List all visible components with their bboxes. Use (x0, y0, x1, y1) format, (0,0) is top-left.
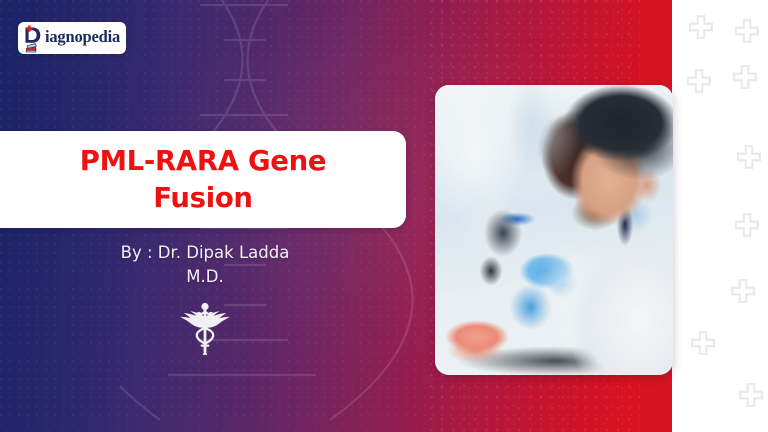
brand-logo-wordmark: iagnopedia (45, 29, 120, 47)
medical-cross-outline-icon (688, 14, 714, 40)
page-title: PML-RARA Gene Fusion (62, 143, 327, 216)
medical-cross-outline-icon (734, 212, 760, 238)
medical-cross-outline-icon (736, 144, 762, 170)
laboratory-photo (435, 85, 673, 375)
title-card: PML-RARA Gene Fusion (0, 131, 406, 228)
author-byline: By : Dr. Dipak Ladda M.D. (0, 241, 410, 289)
medical-books-cross-icon (21, 23, 51, 53)
medical-cross-outline-icon (730, 278, 756, 304)
medical-cross-outline-icon (734, 18, 760, 44)
medical-cross-outline-icon (732, 64, 758, 90)
medical-cross-outline-icon (738, 382, 764, 408)
medical-cross-outline-icon (690, 330, 716, 356)
cross-decoration-field (672, 0, 768, 432)
caduceus-icon (178, 300, 232, 362)
brand-logo[interactable]: iagnopedia (18, 22, 126, 54)
presentation-slide: iagnopedia PML-RARA Gene Fusion By : Dr.… (0, 0, 768, 432)
laboratory-photo-highlights (435, 85, 673, 375)
medical-cross-outline-icon (686, 68, 712, 94)
